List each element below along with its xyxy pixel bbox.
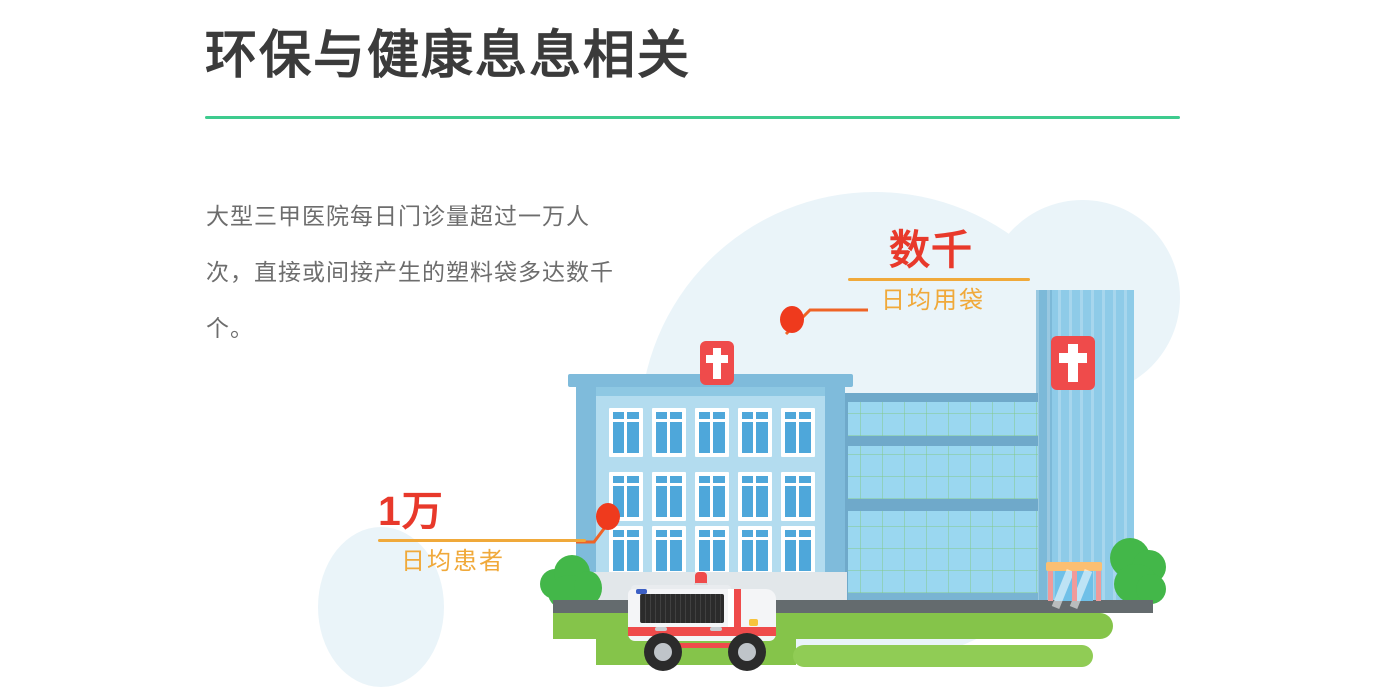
ambulance-door-handle-left (655, 627, 667, 631)
lawn-strip-front (793, 645, 1093, 667)
callout-rule (848, 278, 1030, 281)
callout-dot-top (780, 306, 804, 333)
page-title: 环保与健康息息相关 (205, 24, 691, 88)
mid-block-pane-3 (838, 511, 1038, 593)
window (738, 408, 772, 457)
entrance-canopy (1046, 562, 1102, 571)
slide-canvas: 数千 日均用袋 1万 日均患者 环保与健康息息相关 大型三甲医院每日门诊量超过一… (0, 0, 1400, 700)
canopy-post-left (1048, 571, 1053, 601)
ambulance-wheel-front (728, 633, 766, 671)
callout-dot-bottom (596, 503, 620, 530)
callout-label: 日均用袋 (848, 285, 1030, 317)
ambulance-door-handle-right (710, 627, 722, 631)
callout-value: 数千 (848, 228, 1030, 272)
red-cross-icon-roof (700, 341, 734, 385)
window (609, 408, 643, 457)
ambulance-turn-signal (749, 619, 758, 626)
canopy-post-mid (1072, 571, 1077, 601)
window (652, 472, 686, 521)
mid-block-pane-1 (838, 402, 1038, 436)
window (738, 472, 772, 521)
window (781, 408, 815, 457)
callout-value: 1万 (378, 489, 528, 533)
callout-rule (378, 539, 586, 542)
window (695, 408, 729, 457)
callout-daily-bags: 数千 日均用袋 (848, 228, 1030, 317)
ambulance-window (640, 594, 724, 623)
cross-vertical (713, 348, 721, 379)
window (695, 472, 729, 521)
hospital-mid-block (838, 393, 1038, 600)
cross-horizontal (1059, 353, 1087, 363)
window (781, 472, 815, 521)
window (781, 526, 815, 575)
mid-block-cornice (838, 393, 1038, 402)
ambulance (628, 567, 783, 672)
title-underline (205, 116, 1180, 119)
red-cross-icon-tower (1051, 336, 1095, 390)
left-margin-mask (0, 0, 205, 700)
mid-block-grid-1 (838, 402, 1038, 436)
cross-horizontal (706, 355, 728, 363)
ambulance-wheel-rear (644, 633, 682, 671)
canopy-post-right (1096, 571, 1101, 601)
mid-block-grid-2 (838, 446, 1038, 499)
main-building-column-right (825, 387, 845, 600)
body-paragraph: 大型三甲医院每日门诊量超过一万人次，直接或间接产生的塑料袋多达数千个。 (206, 188, 636, 356)
window (652, 408, 686, 457)
tree-right (1110, 538, 1176, 608)
ambulance-white-band-vertical (728, 589, 734, 629)
mid-block-ledge-1 (838, 436, 1038, 446)
ambulance-blue-marker (636, 589, 647, 594)
callout-label: 日均患者 (378, 546, 528, 578)
mid-block-ledge-2 (838, 499, 1038, 511)
mid-block-grid-3 (838, 511, 1038, 593)
mid-block-pane-2 (838, 446, 1038, 499)
cross-vertical (1068, 344, 1078, 382)
callout-daily-patients: 1万 日均患者 (378, 489, 528, 578)
